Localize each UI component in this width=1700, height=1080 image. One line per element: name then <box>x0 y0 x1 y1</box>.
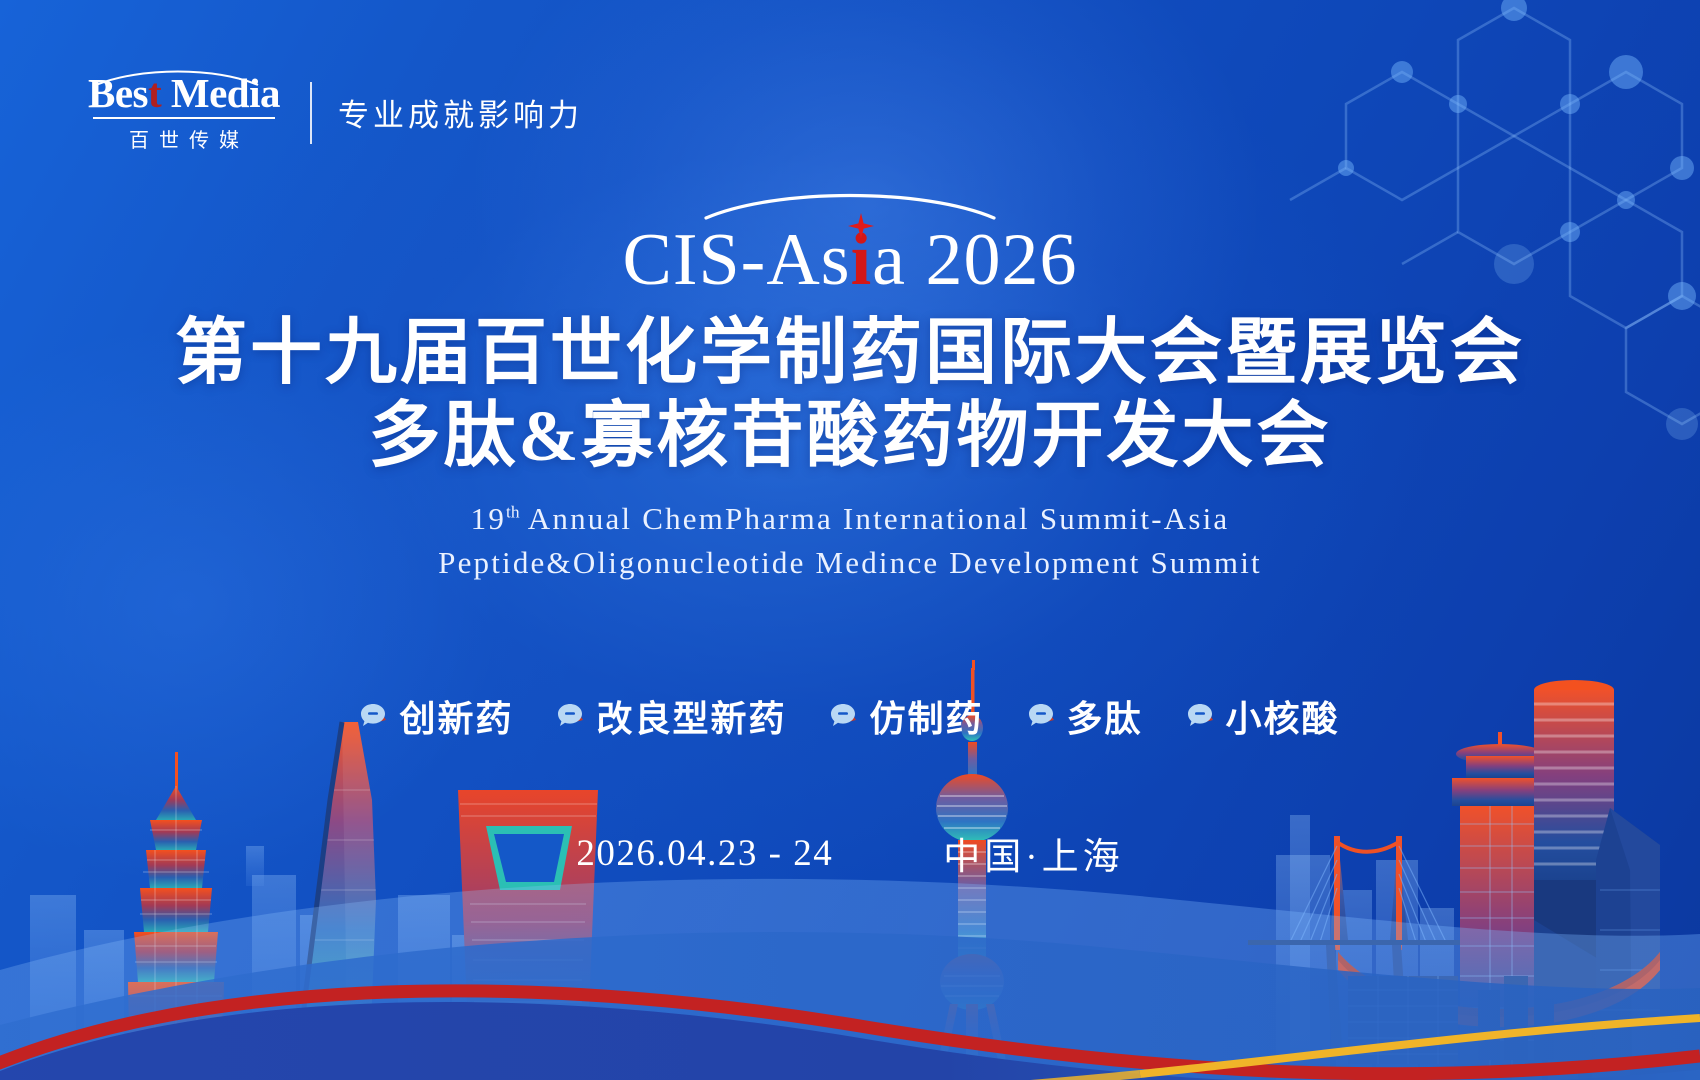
english-subtitle: 19th Annual ChemPharma International Sum… <box>0 497 1700 585</box>
logo-tagline: 专业成就影响力 <box>338 90 583 135</box>
english-subtitle-line-1-rest: Annual ChemPharma International Summit-A… <box>520 501 1230 536</box>
chinese-title-line-1: 第十九届百世化学制药国际大会暨展览会 <box>175 313 1525 393</box>
title-block: CIS-Asia 2026 第十九届百世化学制药国际大会暨展览会 多肽&寡核苷酸… <box>0 188 1700 585</box>
logo-en-accent-t: t <box>148 70 161 116</box>
topic-tag[interactable]: 改良型新药 <box>557 690 786 742</box>
topic-tag-list: 创新药 改良型新药 仿制药 多肽 <box>0 690 1700 742</box>
topic-tag-label: 改良型新药 <box>596 690 786 742</box>
speech-bubble-icon <box>360 702 390 730</box>
speech-bubble-icon <box>557 702 587 730</box>
speech-bubble-icon <box>1028 702 1058 730</box>
topic-tag-label: 小核酸 <box>1226 690 1340 742</box>
brand-title: CIS-Asia 2026 <box>623 222 1078 300</box>
topic-tag[interactable]: 小核酸 <box>1187 690 1340 742</box>
wave-decoration <box>0 850 1700 1080</box>
english-subtitle-line-2: Peptide&Oligonucleotide Medince Developm… <box>0 541 1700 585</box>
topic-tag[interactable]: 仿制药 <box>830 690 983 742</box>
logo-underline <box>93 117 275 119</box>
edition-number: 19 <box>471 501 506 536</box>
event-location: 中国·上海 <box>943 826 1123 880</box>
speech-bubble-icon <box>830 702 860 730</box>
event-meta: 2026.04.23 - 24 中国·上海 <box>0 826 1700 880</box>
logo-en-suffix: Media <box>161 70 280 116</box>
chinese-title: 第十九届百世化学制药国际大会暨展览会 多肽&寡核苷酸药物开发大会 <box>0 312 1700 479</box>
topic-tag-label: 仿制药 <box>869 690 983 742</box>
logo-en-prefix: Bes <box>88 70 148 116</box>
logo-english-name: Best Media <box>88 72 280 115</box>
best-media-logo[interactable]: Best Media 百世传媒 专业成就影响力 <box>88 72 583 153</box>
edition-ordinal-suffix: th <box>506 502 520 521</box>
speech-bubble-icon <box>1187 702 1217 730</box>
brand-accent-i: i <box>851 219 873 301</box>
topic-tag[interactable]: 多肽 <box>1028 690 1143 742</box>
event-date: 2026.04.23 - 24 <box>576 832 833 875</box>
logo-mark: Best Media 百世传媒 <box>88 72 280 153</box>
brand-prefix: CIS-As <box>623 219 851 301</box>
logo-divider <box>310 82 312 144</box>
english-subtitle-line-1: 19th Annual ChemPharma International Sum… <box>0 497 1700 541</box>
topic-tag-label: 多肽 <box>1067 690 1143 742</box>
logo-chinese-name: 百世传媒 <box>119 124 249 153</box>
conference-poster: Best Media 百世传媒 专业成就影响力 CIS-Asia 2026 第十… <box>0 0 1700 1080</box>
chinese-title-line-2: 多肽&寡核苷酸药物开发大会 <box>0 395 1700 479</box>
brand-suffix: a 2026 <box>872 219 1077 301</box>
brand-arc-icon <box>700 188 1000 220</box>
topic-tag[interactable]: 创新药 <box>360 690 513 742</box>
topic-tag-label: 创新药 <box>399 690 513 742</box>
